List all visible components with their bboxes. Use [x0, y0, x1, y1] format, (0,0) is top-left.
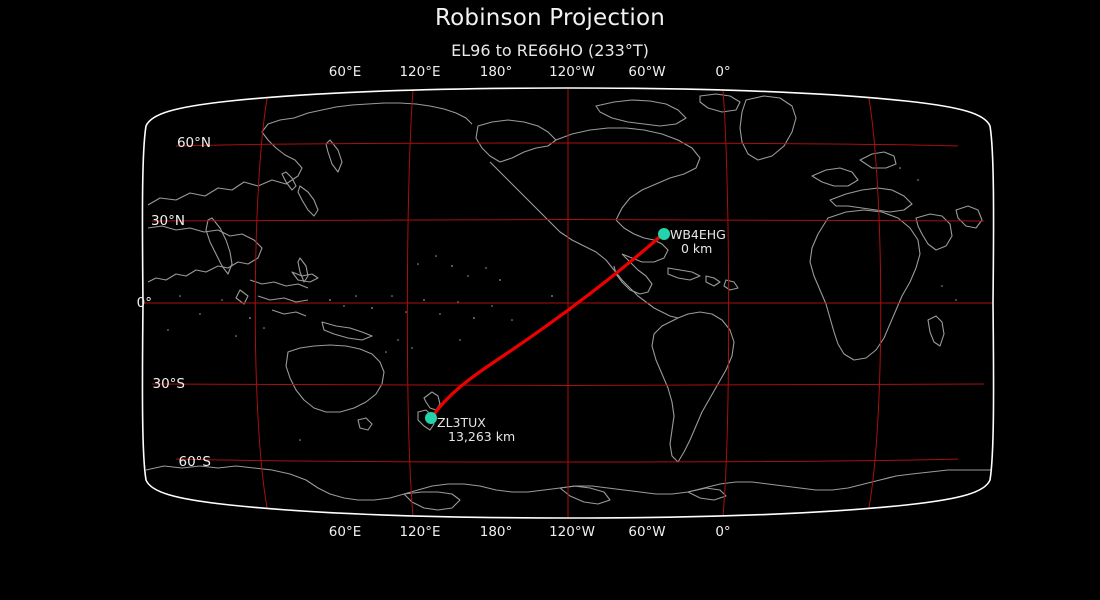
lon-label-bottom-60e: 60°E [329, 524, 361, 540]
marker-origin[interactable] [658, 228, 670, 240]
map-screenshot: Robinson Projection EL96 to RE66HO (233°… [0, 0, 1100, 600]
lon-label-top-60w: 60°W [628, 64, 665, 80]
marker-origin-distance: 0 km [670, 242, 726, 256]
lat-label-30n: 30°N [151, 213, 185, 229]
marker-destination-label: ZL3TUX 13,263 km [437, 416, 515, 443]
lon-label-top-120e: 120°E [399, 64, 440, 80]
lon-label-bottom-120w: 120°W [549, 524, 595, 540]
lon-label-top-120w: 120°W [549, 64, 595, 80]
lat-label-0: 0° [137, 295, 152, 311]
marker-origin-label: WB4EHG 0 km [670, 228, 726, 255]
lon-label-top-180: 180° [480, 64, 513, 80]
lat-label-30s: 30°S [153, 376, 186, 392]
marker-destination-distance: 13,263 km [437, 430, 515, 444]
lon-label-top-0: 0° [715, 64, 730, 80]
marker-origin-callsign: WB4EHG [670, 227, 726, 242]
lat-label-60n: 60°N [177, 135, 211, 151]
marker-destination-callsign: ZL3TUX [437, 415, 486, 430]
lon-label-bottom-120e: 120°E [399, 524, 440, 540]
lon-label-top-60e: 60°E [329, 64, 361, 80]
lon-label-bottom-60w: 60°W [628, 524, 665, 540]
map-canvas[interactable]: 60°E 120°E 180° 120°W 60°W 0° 60°E 120°E… [0, 0, 1100, 600]
map-face [140, 85, 998, 523]
lat-label-60s: 60°S [179, 454, 212, 470]
map-graphics [0, 0, 1100, 600]
lon-label-bottom-180: 180° [480, 524, 513, 540]
lon-label-bottom-0: 0° [715, 524, 730, 540]
marker-destination[interactable] [425, 412, 437, 424]
